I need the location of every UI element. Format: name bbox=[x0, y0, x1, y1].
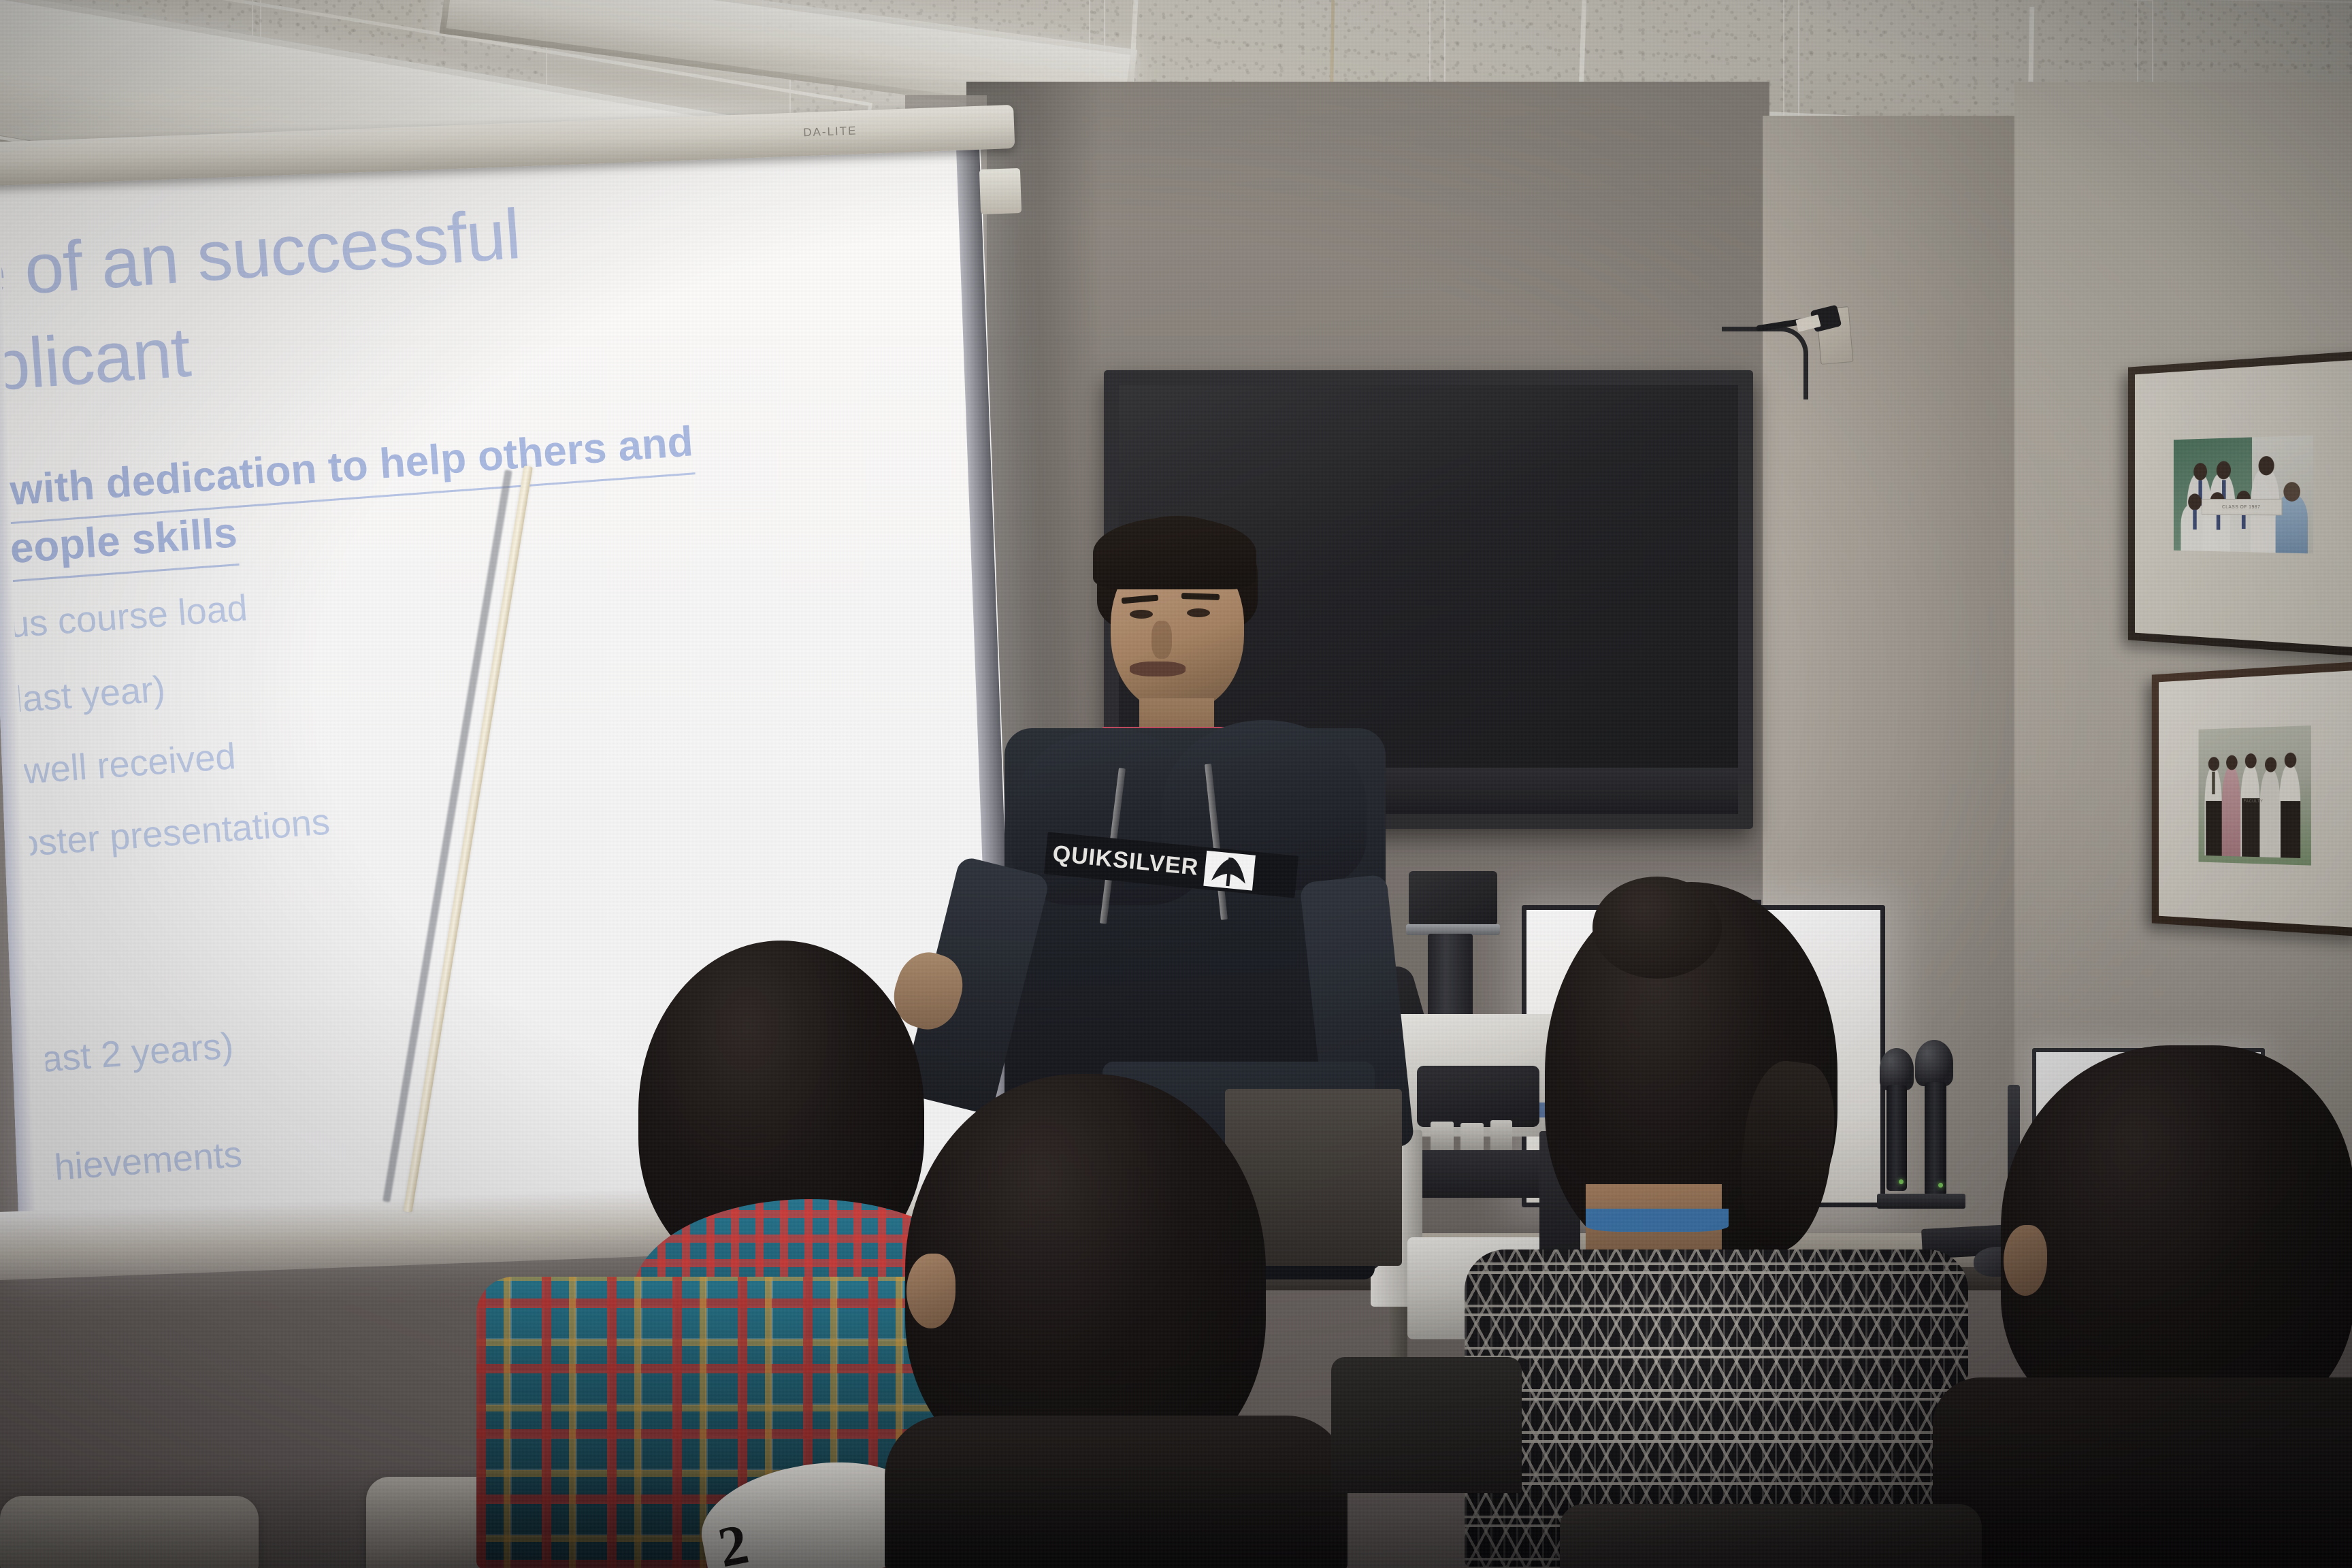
photo-person-head bbox=[2208, 757, 2219, 771]
microscope-nosepiece-turret bbox=[1417, 1066, 1539, 1127]
wireless-microphone-left-body[interactable] bbox=[1886, 1085, 1907, 1191]
student-aztec-hair-bun bbox=[1592, 877, 1722, 979]
student-center-ear bbox=[906, 1254, 955, 1328]
photo-person-tie bbox=[2193, 510, 2196, 529]
chair-backrest-right[interactable] bbox=[1560, 1504, 1982, 1568]
photo-image bbox=[2174, 436, 2313, 554]
photo-person bbox=[2222, 767, 2241, 856]
slide-bullet-5: within last 2 years) bbox=[0, 1024, 235, 1090]
photo-person-legs bbox=[2281, 801, 2300, 858]
screen-brand-label: DA-LITE bbox=[803, 124, 857, 140]
microphone-left-led bbox=[1899, 1179, 1904, 1184]
presenter-nose bbox=[1151, 621, 1172, 659]
photo-caption-text: FACULTY bbox=[2244, 800, 2264, 804]
presenter-hair-top bbox=[1093, 517, 1256, 589]
photo-person-head bbox=[2193, 463, 2207, 480]
tv-power-cable bbox=[1722, 327, 1808, 399]
slide-bullet-2: ettings well received bbox=[0, 734, 238, 802]
presenter-mouth bbox=[1130, 661, 1186, 676]
photo-person-head bbox=[2226, 755, 2238, 770]
photo-person-tie bbox=[2212, 772, 2215, 794]
photo-person-head bbox=[2285, 753, 2297, 768]
student-center-shoulders bbox=[885, 1416, 1347, 1568]
quiksilver-wave-icon bbox=[1204, 851, 1256, 891]
photo-person-legs bbox=[2206, 801, 2222, 856]
slide-bullet-1: within last year) bbox=[0, 667, 167, 730]
photo-person-head bbox=[2283, 482, 2300, 502]
microscope-camera-head bbox=[1409, 871, 1497, 926]
slide-bullet-0: rigorous course load bbox=[0, 586, 249, 654]
framed-group-photo-lower: FACULTY bbox=[2152, 661, 2352, 936]
hoodie-brand-text: QUIKSILVER bbox=[1051, 840, 1200, 881]
photo-person bbox=[2259, 769, 2281, 857]
slide-bullet-3: nd/or poster presentations bbox=[0, 800, 331, 875]
chair-backrest-center[interactable] bbox=[1331, 1357, 1522, 1493]
photo-caption-plate: FACULTY bbox=[2219, 796, 2289, 808]
wireless-microphone-right-head[interactable] bbox=[1915, 1040, 1953, 1086]
microscope-objective bbox=[1490, 1120, 1512, 1153]
microphone-dock-base bbox=[1877, 1194, 1965, 1209]
wireless-microphone-right-body[interactable] bbox=[1925, 1082, 1946, 1196]
microphone-right-led bbox=[1938, 1183, 1943, 1188]
photo-caption-plate: CLASS OF 1987 bbox=[2202, 499, 2282, 515]
photo-caption-text: CLASS OF 1987 bbox=[2222, 504, 2260, 509]
chair-backrest-far-left[interactable] bbox=[0, 1496, 259, 1568]
photo-mat: FACULTY bbox=[2159, 670, 2352, 928]
student-far-right-ear bbox=[2004, 1225, 2047, 1296]
photo-person-head bbox=[2217, 461, 2231, 479]
slide-title-line-1: ofile of an successful bbox=[0, 191, 523, 324]
student-far-right-head bbox=[2001, 1045, 2352, 1426]
classroom-photo-scene: ofile of an successful applicant eople w… bbox=[0, 0, 2352, 1568]
student-aztec-collar-band bbox=[1586, 1209, 1729, 1232]
paper-handout-mark: 2 bbox=[713, 1511, 754, 1568]
photo-person-head bbox=[2188, 493, 2202, 510]
presenter-eye-left bbox=[1130, 610, 1153, 619]
photo-person-head bbox=[2265, 757, 2276, 772]
microscope-camera-tube bbox=[1428, 934, 1473, 1021]
screen-housing-endcap bbox=[979, 168, 1022, 214]
wireless-microphone-left-head[interactable] bbox=[1880, 1048, 1914, 1090]
photo-person-head bbox=[2245, 753, 2257, 768]
student-far-right-shoulders bbox=[1933, 1377, 2352, 1568]
slide-title-line-2: applicant bbox=[0, 310, 193, 416]
presenter-eye-right bbox=[1187, 608, 1210, 617]
photo-mat: CLASS OF 1987 bbox=[2135, 359, 2352, 647]
slide-bullet-6: ular achievements bbox=[0, 1132, 244, 1198]
presenter-eyebrow-right bbox=[1181, 593, 1220, 600]
framed-group-photo-upper: CLASS OF 1987 bbox=[2128, 350, 2352, 657]
